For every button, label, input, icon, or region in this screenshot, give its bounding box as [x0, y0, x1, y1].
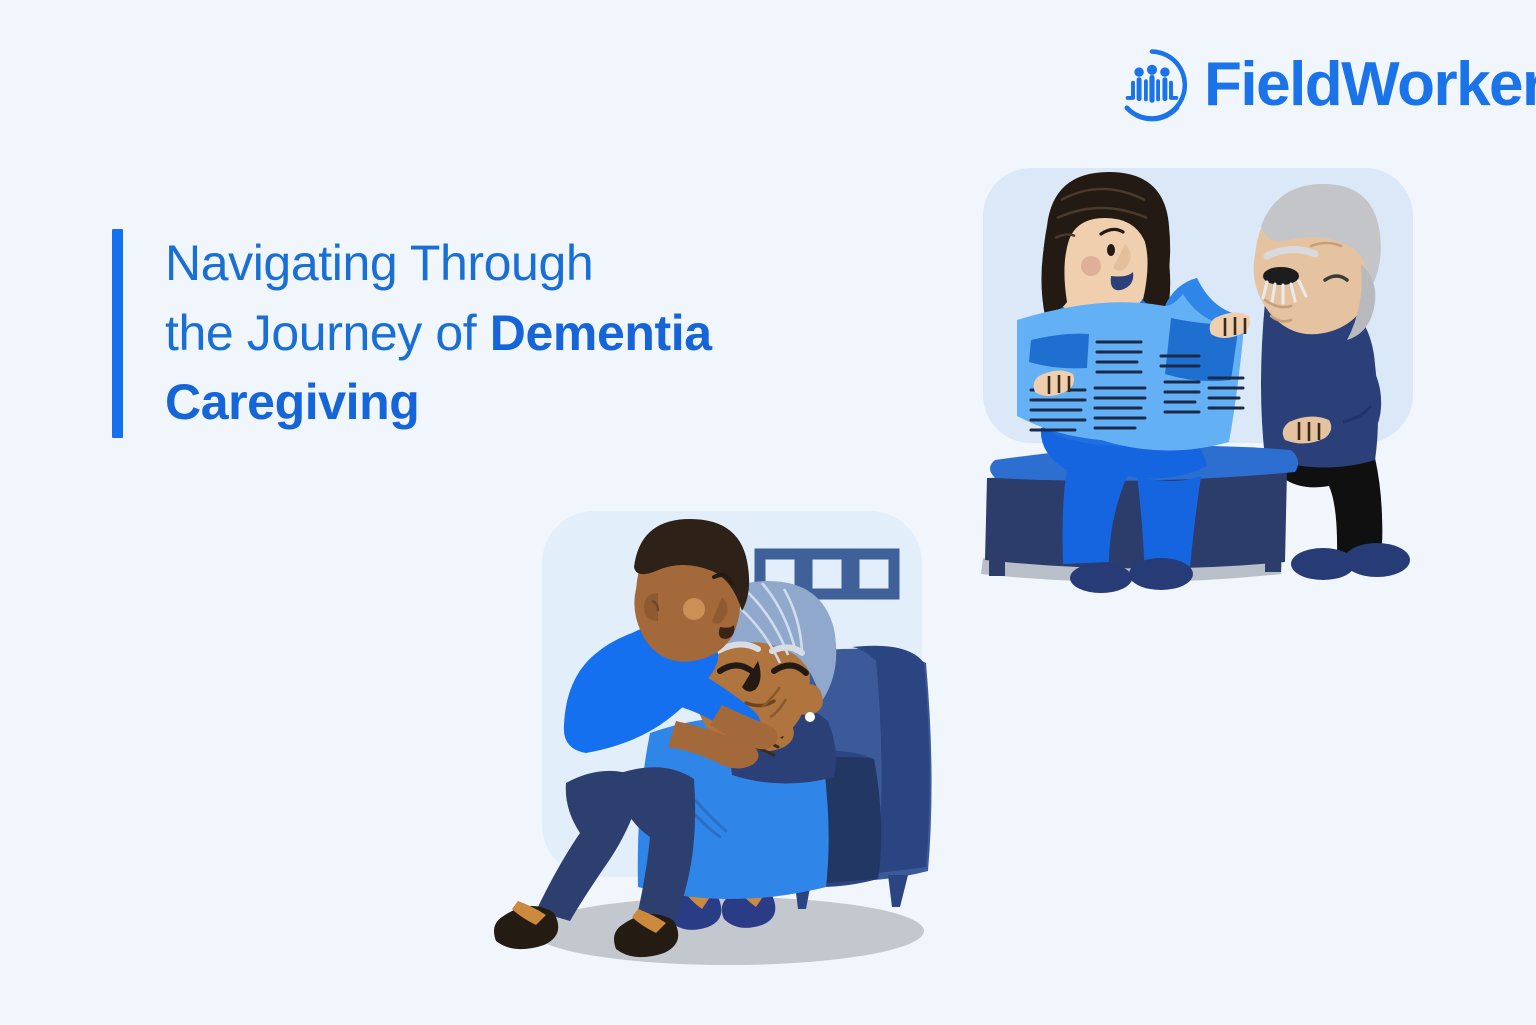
illustration-reading-newspaper — [965, 160, 1455, 630]
man-shoe-right — [1344, 543, 1410, 577]
headline-block: Navigating Through the Journey of Dement… — [112, 229, 712, 438]
brand-name: FieldWorker — [1204, 50, 1536, 119]
headline-line-2-strong: Dementia — [490, 305, 712, 361]
bench-body — [985, 470, 1287, 569]
page-title: Navigating Through the Journey of Dement… — [165, 229, 712, 438]
headline-line-1: Navigating Through — [165, 235, 593, 291]
woman-cheek — [1081, 256, 1101, 276]
headline-line-2-regular: the Journey of — [165, 305, 490, 361]
earring — [805, 712, 815, 722]
poster-canvas: FieldWorker TM Navigating Through the Jo… — [0, 0, 1536, 1025]
woman-shoe-right — [1129, 558, 1193, 590]
chair-leg-right — [888, 875, 908, 907]
three-people-in-circle-icon — [1114, 47, 1190, 123]
brand-wordmark: FieldWorker TM — [1204, 54, 1536, 116]
brand-logo[interactable]: FieldWorker TM — [1114, 47, 1536, 123]
caregiver-cheek — [683, 598, 705, 620]
illustration-caregiver-helping — [480, 505, 960, 985]
woman-shoe-left — [1070, 563, 1132, 593]
headline-accent-bar — [112, 229, 123, 438]
woman-eye — [1107, 244, 1115, 256]
headline-line-3-strong: Caregiving — [165, 374, 419, 430]
